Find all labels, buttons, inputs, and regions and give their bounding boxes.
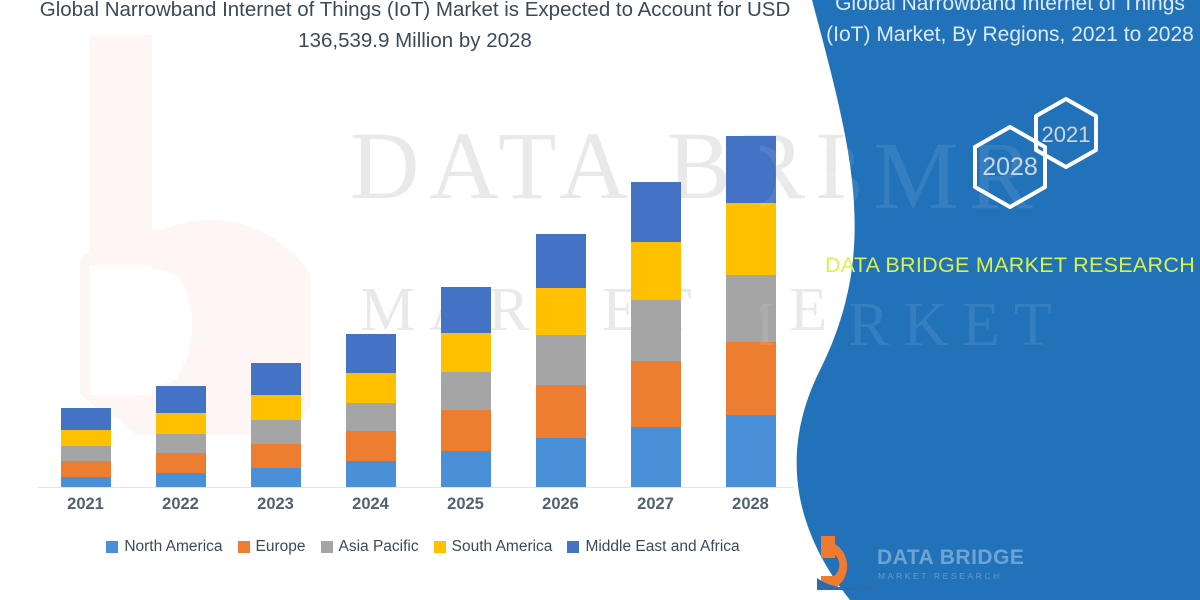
- bar-segment[interactable]: [346, 373, 396, 403]
- bar-segment[interactable]: [536, 288, 586, 335]
- x-axis-label-2021: 2021: [38, 495, 133, 514]
- bar-segment[interactable]: [441, 287, 491, 333]
- legend-label: South America: [452, 538, 553, 556]
- bar-segment[interactable]: [631, 182, 681, 242]
- bar-segment[interactable]: [156, 413, 206, 434]
- legend-swatch-icon: [238, 541, 250, 553]
- right-branding-panel: DBMR MARKET Global Narrowband Internet o…: [760, 0, 1200, 600]
- panel-logo-text: DATA BRIDGE: [877, 546, 1024, 570]
- bar-slot: [608, 120, 703, 487]
- legend-swatch-icon: [567, 541, 579, 553]
- chart-legend: North AmericaEuropeAsia PacificSouth Ame…: [38, 538, 808, 556]
- bar-segment[interactable]: [251, 444, 301, 468]
- legend-swatch-icon: [321, 541, 333, 553]
- x-axis-label-2025: 2025: [418, 495, 513, 514]
- bar-segment[interactable]: [251, 395, 301, 420]
- legend-swatch-icon: [434, 541, 446, 553]
- bar-segment[interactable]: [536, 438, 586, 487]
- legend-label: North America: [124, 538, 222, 556]
- logo-b-icon: [815, 534, 875, 590]
- bar-segment[interactable]: [156, 386, 206, 413]
- stacked-bar-2025[interactable]: [441, 287, 491, 487]
- bar-segment[interactable]: [251, 420, 301, 444]
- bar-segment[interactable]: [631, 300, 681, 361]
- bar-segment[interactable]: [346, 403, 396, 431]
- bar-segment[interactable]: [346, 461, 396, 487]
- x-axis-labels: 20212022202320242025202620272028: [38, 495, 798, 514]
- bar-slot: [228, 120, 323, 487]
- hexagon-2028-label: 2028: [982, 153, 1038, 181]
- bar-segment[interactable]: [631, 242, 681, 300]
- bar-segment[interactable]: [156, 473, 206, 487]
- bar-segment[interactable]: [251, 468, 301, 487]
- legend-swatch-icon: [106, 541, 118, 553]
- x-axis-label-2022: 2022: [133, 495, 228, 514]
- hexagons-icon: 2028 2021: [820, 95, 1200, 225]
- bar-slot: [133, 120, 228, 487]
- bar-segment[interactable]: [536, 234, 586, 288]
- bar-segment[interactable]: [441, 410, 491, 451]
- legend-item[interactable]: Europe: [238, 538, 306, 556]
- bar-slot: [513, 120, 608, 487]
- legend-label: Middle East and Africa: [585, 538, 739, 556]
- stacked-bar-2027[interactable]: [631, 182, 681, 487]
- bar-group: [38, 120, 798, 487]
- legend-label: Asia Pacific: [339, 538, 419, 556]
- x-axis-label-2027: 2027: [608, 495, 703, 514]
- legend-item[interactable]: Asia Pacific: [321, 538, 419, 556]
- bar-segment[interactable]: [441, 333, 491, 372]
- bar-segment[interactable]: [536, 385, 586, 438]
- x-axis-label-2026: 2026: [513, 495, 608, 514]
- hexagon-group: 2028 2021: [820, 95, 1200, 225]
- chart-plot-area: [38, 120, 798, 488]
- stacked-bar-2026[interactable]: [536, 234, 586, 487]
- stacked-bar-2022[interactable]: [156, 386, 206, 487]
- bar-segment[interactable]: [441, 451, 491, 487]
- infographic-canvas: DATA BRIDGE MARKET RESEARCH Global Narro…: [0, 0, 1200, 600]
- hexagon-2021-label: 2021: [1042, 122, 1091, 147]
- legend-label: Europe: [256, 538, 306, 556]
- x-axis-label-2024: 2024: [323, 495, 418, 514]
- bar-segment[interactable]: [61, 477, 111, 487]
- legend-item[interactable]: South America: [434, 538, 553, 556]
- chart-title: Global Narrowband Internet of Things (Io…: [35, 0, 795, 56]
- bar-segment[interactable]: [631, 427, 681, 487]
- bar-segment[interactable]: [536, 335, 586, 385]
- bar-segment[interactable]: [61, 430, 111, 446]
- bar-segment[interactable]: [156, 453, 206, 473]
- stacked-bar-2023[interactable]: [251, 363, 301, 487]
- bar-slot: [38, 120, 133, 487]
- x-axis-label-2023: 2023: [228, 495, 323, 514]
- bar-segment[interactable]: [631, 361, 681, 427]
- bar-slot: [323, 120, 418, 487]
- x-axis-line: [38, 487, 794, 488]
- bar-segment[interactable]: [61, 461, 111, 477]
- panel-logo-subtext: MARKET RESEARCH: [878, 571, 1002, 581]
- bar-segment[interactable]: [346, 431, 396, 461]
- bar-segment[interactable]: [156, 434, 206, 453]
- bar-segment[interactable]: [346, 334, 396, 373]
- panel-logo: DATA BRIDGE MARKET RESEARCH: [815, 534, 1075, 594]
- bar-segment[interactable]: [61, 446, 111, 461]
- stacked-bar-2024[interactable]: [346, 334, 396, 487]
- bar-segment[interactable]: [251, 363, 301, 395]
- legend-item[interactable]: Middle East and Africa: [567, 538, 739, 556]
- bar-segment[interactable]: [61, 408, 111, 430]
- bar-segment[interactable]: [441, 372, 491, 410]
- panel-brand-text: DATA BRIDGE MARKET RESEARCH: [820, 250, 1200, 280]
- bar-slot: [418, 120, 513, 487]
- panel-title: Global Narrowband Internet of Things (Io…: [820, 0, 1200, 50]
- legend-item[interactable]: North America: [106, 538, 222, 556]
- stacked-bar-2021[interactable]: [61, 408, 111, 487]
